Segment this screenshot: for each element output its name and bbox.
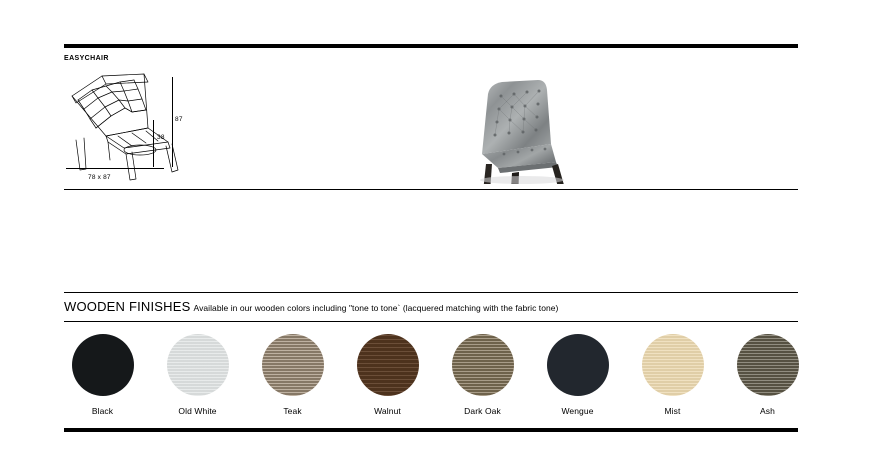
footprint-dimension-line	[66, 168, 164, 169]
swatch-cell[interactable]: Old White	[150, 334, 245, 422]
finishes-subtitle: Available in our wooden colors including…	[194, 303, 559, 313]
swatch-disc[interactable]	[642, 334, 704, 396]
swatch-grain-texture	[737, 334, 799, 396]
swatch-disc[interactable]	[72, 334, 134, 396]
swatch-label: Walnut	[374, 406, 401, 416]
swatch-grain-texture	[72, 334, 134, 396]
swatch-disc[interactable]	[452, 334, 514, 396]
swatch-disc[interactable]	[737, 334, 799, 396]
swatch-disc[interactable]	[167, 334, 229, 396]
swatch-label: Ash	[760, 406, 775, 416]
swatch-cell[interactable]: Mist	[625, 334, 720, 422]
finishes-title: WOODEN FINISHES	[64, 299, 191, 314]
swatch-cell[interactable]: Black	[55, 334, 150, 422]
swatch-cell[interactable]: Dark Oak	[435, 334, 530, 422]
catalog-page: EASYCHAIR	[0, 0, 880, 453]
seat-height-dimension-line	[153, 120, 154, 167]
swatch-grain-texture	[547, 334, 609, 396]
finishes-bottom-rule	[64, 321, 798, 322]
swatch-grain-texture	[357, 334, 419, 396]
finishes-top-rule	[64, 292, 798, 293]
swatch-cell[interactable]: Walnut	[340, 334, 435, 422]
height-dimension-label: 87	[175, 116, 183, 124]
swatch-cell[interactable]: Ash	[720, 334, 815, 422]
swatch-label: Wengue	[561, 406, 593, 416]
seat-height-dimension-label: 38	[157, 134, 165, 142]
footprint-dimension-label: 78 x 87	[88, 174, 111, 182]
wood-finish-swatches: BlackOld WhiteTeakWalnutDark OakWengueMi…	[55, 334, 815, 422]
swatch-grain-texture	[642, 334, 704, 396]
swatch-cell[interactable]: Wengue	[530, 334, 625, 422]
product-photo	[452, 72, 582, 184]
swatch-grain-texture	[262, 334, 324, 396]
swatch-label: Black	[92, 406, 113, 416]
header-rule	[64, 44, 798, 48]
height-dimension-line	[172, 77, 173, 167]
finishes-header: WOODEN FINISHESAvailable in our wooden c…	[64, 298, 558, 316]
swatch-label: Old White	[178, 406, 216, 416]
swatch-grain-texture	[167, 334, 229, 396]
drawing-section-rule	[64, 189, 798, 190]
swatch-label: Teak	[283, 406, 301, 416]
swatch-label: Dark Oak	[464, 406, 501, 416]
swatch-grain-texture	[452, 334, 514, 396]
swatch-label: Mist	[665, 406, 681, 416]
swatch-disc[interactable]	[547, 334, 609, 396]
swatch-cell[interactable]: Teak	[245, 334, 340, 422]
swatch-disc[interactable]	[262, 334, 324, 396]
swatch-disc[interactable]	[357, 334, 419, 396]
footer-rule	[64, 428, 798, 432]
